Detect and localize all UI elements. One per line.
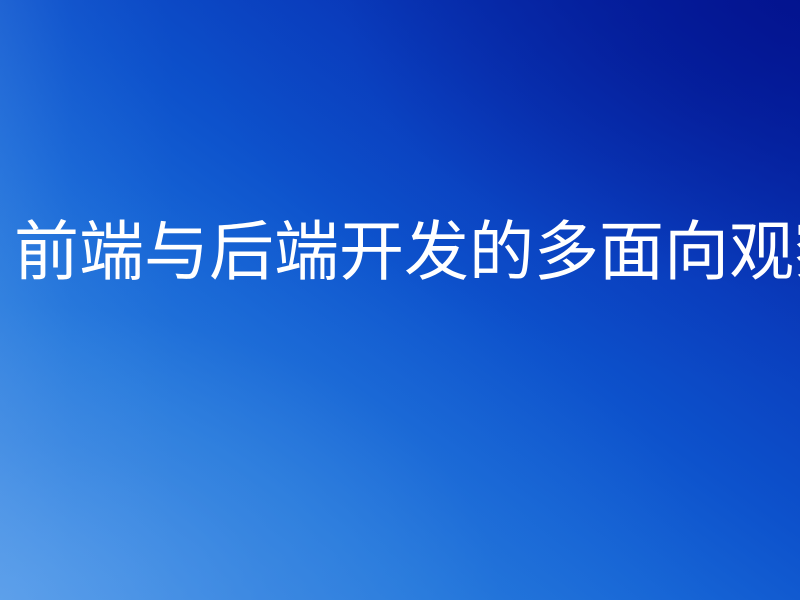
page-title: 前端与后端开发的多面向观察 xyxy=(0,218,800,287)
title-slide: 前端与后端开发的多面向观察 xyxy=(0,0,800,600)
title-block: 前端与后端开发的多面向观察 xyxy=(0,0,800,600)
